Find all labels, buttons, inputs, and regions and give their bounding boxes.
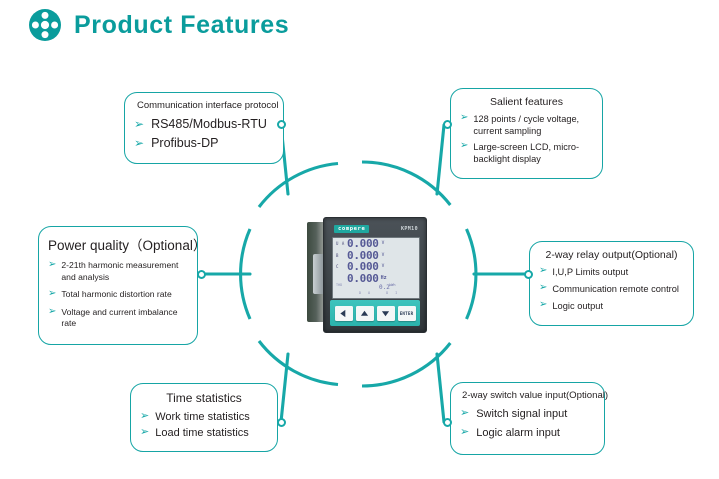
- arrow-bullet-icon: ➢: [140, 411, 149, 422]
- list-item: ➢ Logic alarm input: [460, 427, 595, 439]
- arrow-bullet-icon: ➢: [140, 427, 149, 438]
- lcd-phase-label: C: [336, 264, 347, 269]
- lcd-phase-label: U A: [336, 241, 347, 246]
- connector-node-switch-input: [443, 418, 452, 427]
- list-item: ➢ Large-screen LCD, micro-backlight disp…: [460, 141, 593, 165]
- lcd-value: 0.000: [347, 261, 379, 272]
- list-item-label: Profibus-DP: [151, 136, 218, 150]
- feature-box-salient-features[interactable]: Salient features ➢ 128 points / cycle vo…: [450, 88, 603, 179]
- lcd-unit: V: [382, 253, 385, 258]
- list-item-label: I,U,P Limits output: [552, 266, 628, 278]
- list-item: ➢ Logic output: [539, 300, 684, 312]
- list-item: ➢ I,U,P Limits output: [539, 266, 684, 278]
- arrow-bullet-icon: ➢: [460, 141, 468, 151]
- feature-box-time-statistics[interactable]: Time statistics ➢ Work time statistics ➢…: [130, 383, 278, 452]
- arrow-bullet-icon: ➢: [48, 307, 56, 317]
- box-title: Time statistics: [140, 391, 268, 405]
- box-item-list: ➢ Work time statistics ➢ Load time stati…: [140, 411, 268, 439]
- list-item: ➢ Load time statistics: [140, 427, 268, 439]
- feature-box-communication-interface-protocol[interactable]: Communication interface protocol ➢ RS485…: [124, 92, 284, 164]
- device-brand-label: compere: [334, 225, 369, 233]
- box-item-list: ➢ I,U,P Limits output ➢ Communication re…: [539, 266, 684, 312]
- arrow-bullet-icon: ➢: [539, 300, 547, 310]
- device-model-label: KPM10: [401, 226, 418, 232]
- list-item-label: Logic alarm input: [476, 427, 560, 439]
- box-item-list: ➢ Switch signal input ➢ Logic alarm inpu…: [460, 408, 595, 439]
- list-item: ➢ Communication remote control: [539, 283, 684, 295]
- lcd-energy-unit: kWh: [389, 283, 396, 287]
- arrow-bullet-icon: ➢: [48, 260, 56, 270]
- list-item: ➢ Profibus-DP: [134, 136, 274, 150]
- list-item-label: Communication remote control: [552, 283, 679, 295]
- list-item-label: Logic output: [552, 300, 603, 312]
- box-item-list: ➢ 2-21th harmonic measurement and analys…: [48, 260, 188, 330]
- list-item: ➢ RS485/Modbus-RTU: [134, 117, 274, 131]
- lcd-value: 0.000: [347, 238, 379, 249]
- box-title: Power quality（Optional）: [48, 234, 188, 254]
- arrow-bullet-icon: ➢: [134, 118, 144, 130]
- lcd-unit: V: [382, 264, 385, 269]
- lcd-value: 0.000: [347, 250, 379, 261]
- list-item-label: RS485/Modbus-RTU: [151, 117, 267, 131]
- lcd-row: U A 0.000 V: [333, 238, 419, 250]
- list-item-label: 2-21th harmonic measurement and analysis: [61, 260, 188, 283]
- device-lcd-screen: U A 0.000 V B 0.000 V C 0.000 V 0.000 Hz…: [332, 237, 420, 299]
- list-item-label: 128 points / cycle voltage, current samp…: [473, 113, 593, 137]
- list-item: ➢ Work time statistics: [140, 411, 268, 423]
- list-item-label: Load time statistics: [155, 427, 249, 439]
- arrow-bullet-icon: ➢: [48, 289, 56, 299]
- connector-node-salient: [443, 120, 452, 129]
- arrow-bullet-icon: ➢: [539, 283, 547, 293]
- arrow-bullet-icon: ➢: [460, 427, 469, 438]
- list-item: ➢ 128 points / cycle voltage, current sa…: [460, 113, 593, 137]
- box-item-list: ➢ 128 points / cycle voltage, current sa…: [460, 113, 593, 166]
- lcd-phase-label: B: [336, 253, 347, 258]
- arrow-bullet-icon: ➢: [134, 137, 144, 149]
- lcd-unit: Hz: [381, 275, 387, 281]
- device-keypad: ENTER: [330, 300, 420, 326]
- list-item: ➢ Voltage and current imbalance rate: [48, 307, 188, 330]
- page-title: Product Features: [74, 11, 289, 40]
- power-meter-device-image: compere KPM10 U A 0.000 V B 0.000 V C 0.…: [305, 216, 427, 334]
- lcd-thd-label: THD: [336, 283, 342, 287]
- lcd-row: C 0.000 V: [333, 261, 419, 273]
- key-down-arrow[interactable]: [377, 306, 395, 321]
- list-item-label: Large-screen LCD, micro-backlight displa…: [473, 141, 593, 165]
- list-item-label: Total harmonic distortion rate: [61, 289, 171, 301]
- box-title: 2-way switch value input(Optional): [460, 390, 595, 401]
- box-title: Salient features: [460, 96, 593, 108]
- device-front-panel: compere KPM10 U A 0.000 V B 0.000 V C 0.…: [323, 217, 427, 333]
- key-up-arrow[interactable]: [356, 306, 374, 321]
- list-item: ➢ Switch signal input: [460, 408, 595, 420]
- list-item: ➢ Total harmonic distortion rate: [48, 289, 188, 301]
- feature-box-power-quality[interactable]: Power quality（Optional） ➢ 2-21th harmoni…: [38, 226, 198, 345]
- feature-box-switch-value-input[interactable]: 2-way switch value input(Optional) ➢ Swi…: [450, 382, 605, 455]
- feature-box-relay-output[interactable]: 2-way relay output(Optional) ➢ I,U,P Lim…: [529, 241, 694, 326]
- key-left-arrow[interactable]: [335, 306, 353, 321]
- arrow-bullet-icon: ➢: [539, 266, 547, 276]
- list-item-label: Switch signal input: [476, 408, 567, 420]
- box-title: 2-way relay output(Optional): [539, 249, 684, 261]
- lcd-io-labels: DO DI: [359, 291, 404, 295]
- connector-node-time-statistics: [277, 418, 286, 427]
- hub-atom-icon: [28, 8, 62, 42]
- connector-node-power-quality: [197, 270, 206, 279]
- list-item-label: Work time statistics: [155, 411, 250, 423]
- lcd-row-frequency: 0.000 Hz: [333, 273, 419, 285]
- list-item-label: Voltage and current imbalance rate: [61, 307, 188, 330]
- lcd-value: 0.000: [347, 273, 379, 284]
- arrow-bullet-icon: ➢: [460, 113, 468, 123]
- lcd-unit: V: [382, 241, 385, 246]
- list-item: ➢ 2-21th harmonic measurement and analys…: [48, 260, 188, 283]
- box-item-list: ➢ RS485/Modbus-RTU ➢ Profibus-DP: [134, 117, 274, 150]
- key-enter[interactable]: ENTER: [398, 306, 416, 321]
- page-header: Product Features: [28, 8, 289, 42]
- connector-node-communication: [277, 120, 286, 129]
- connector-node-relay: [524, 270, 533, 279]
- arrow-bullet-icon: ➢: [460, 408, 469, 419]
- box-title: Communication interface protocol: [134, 100, 274, 111]
